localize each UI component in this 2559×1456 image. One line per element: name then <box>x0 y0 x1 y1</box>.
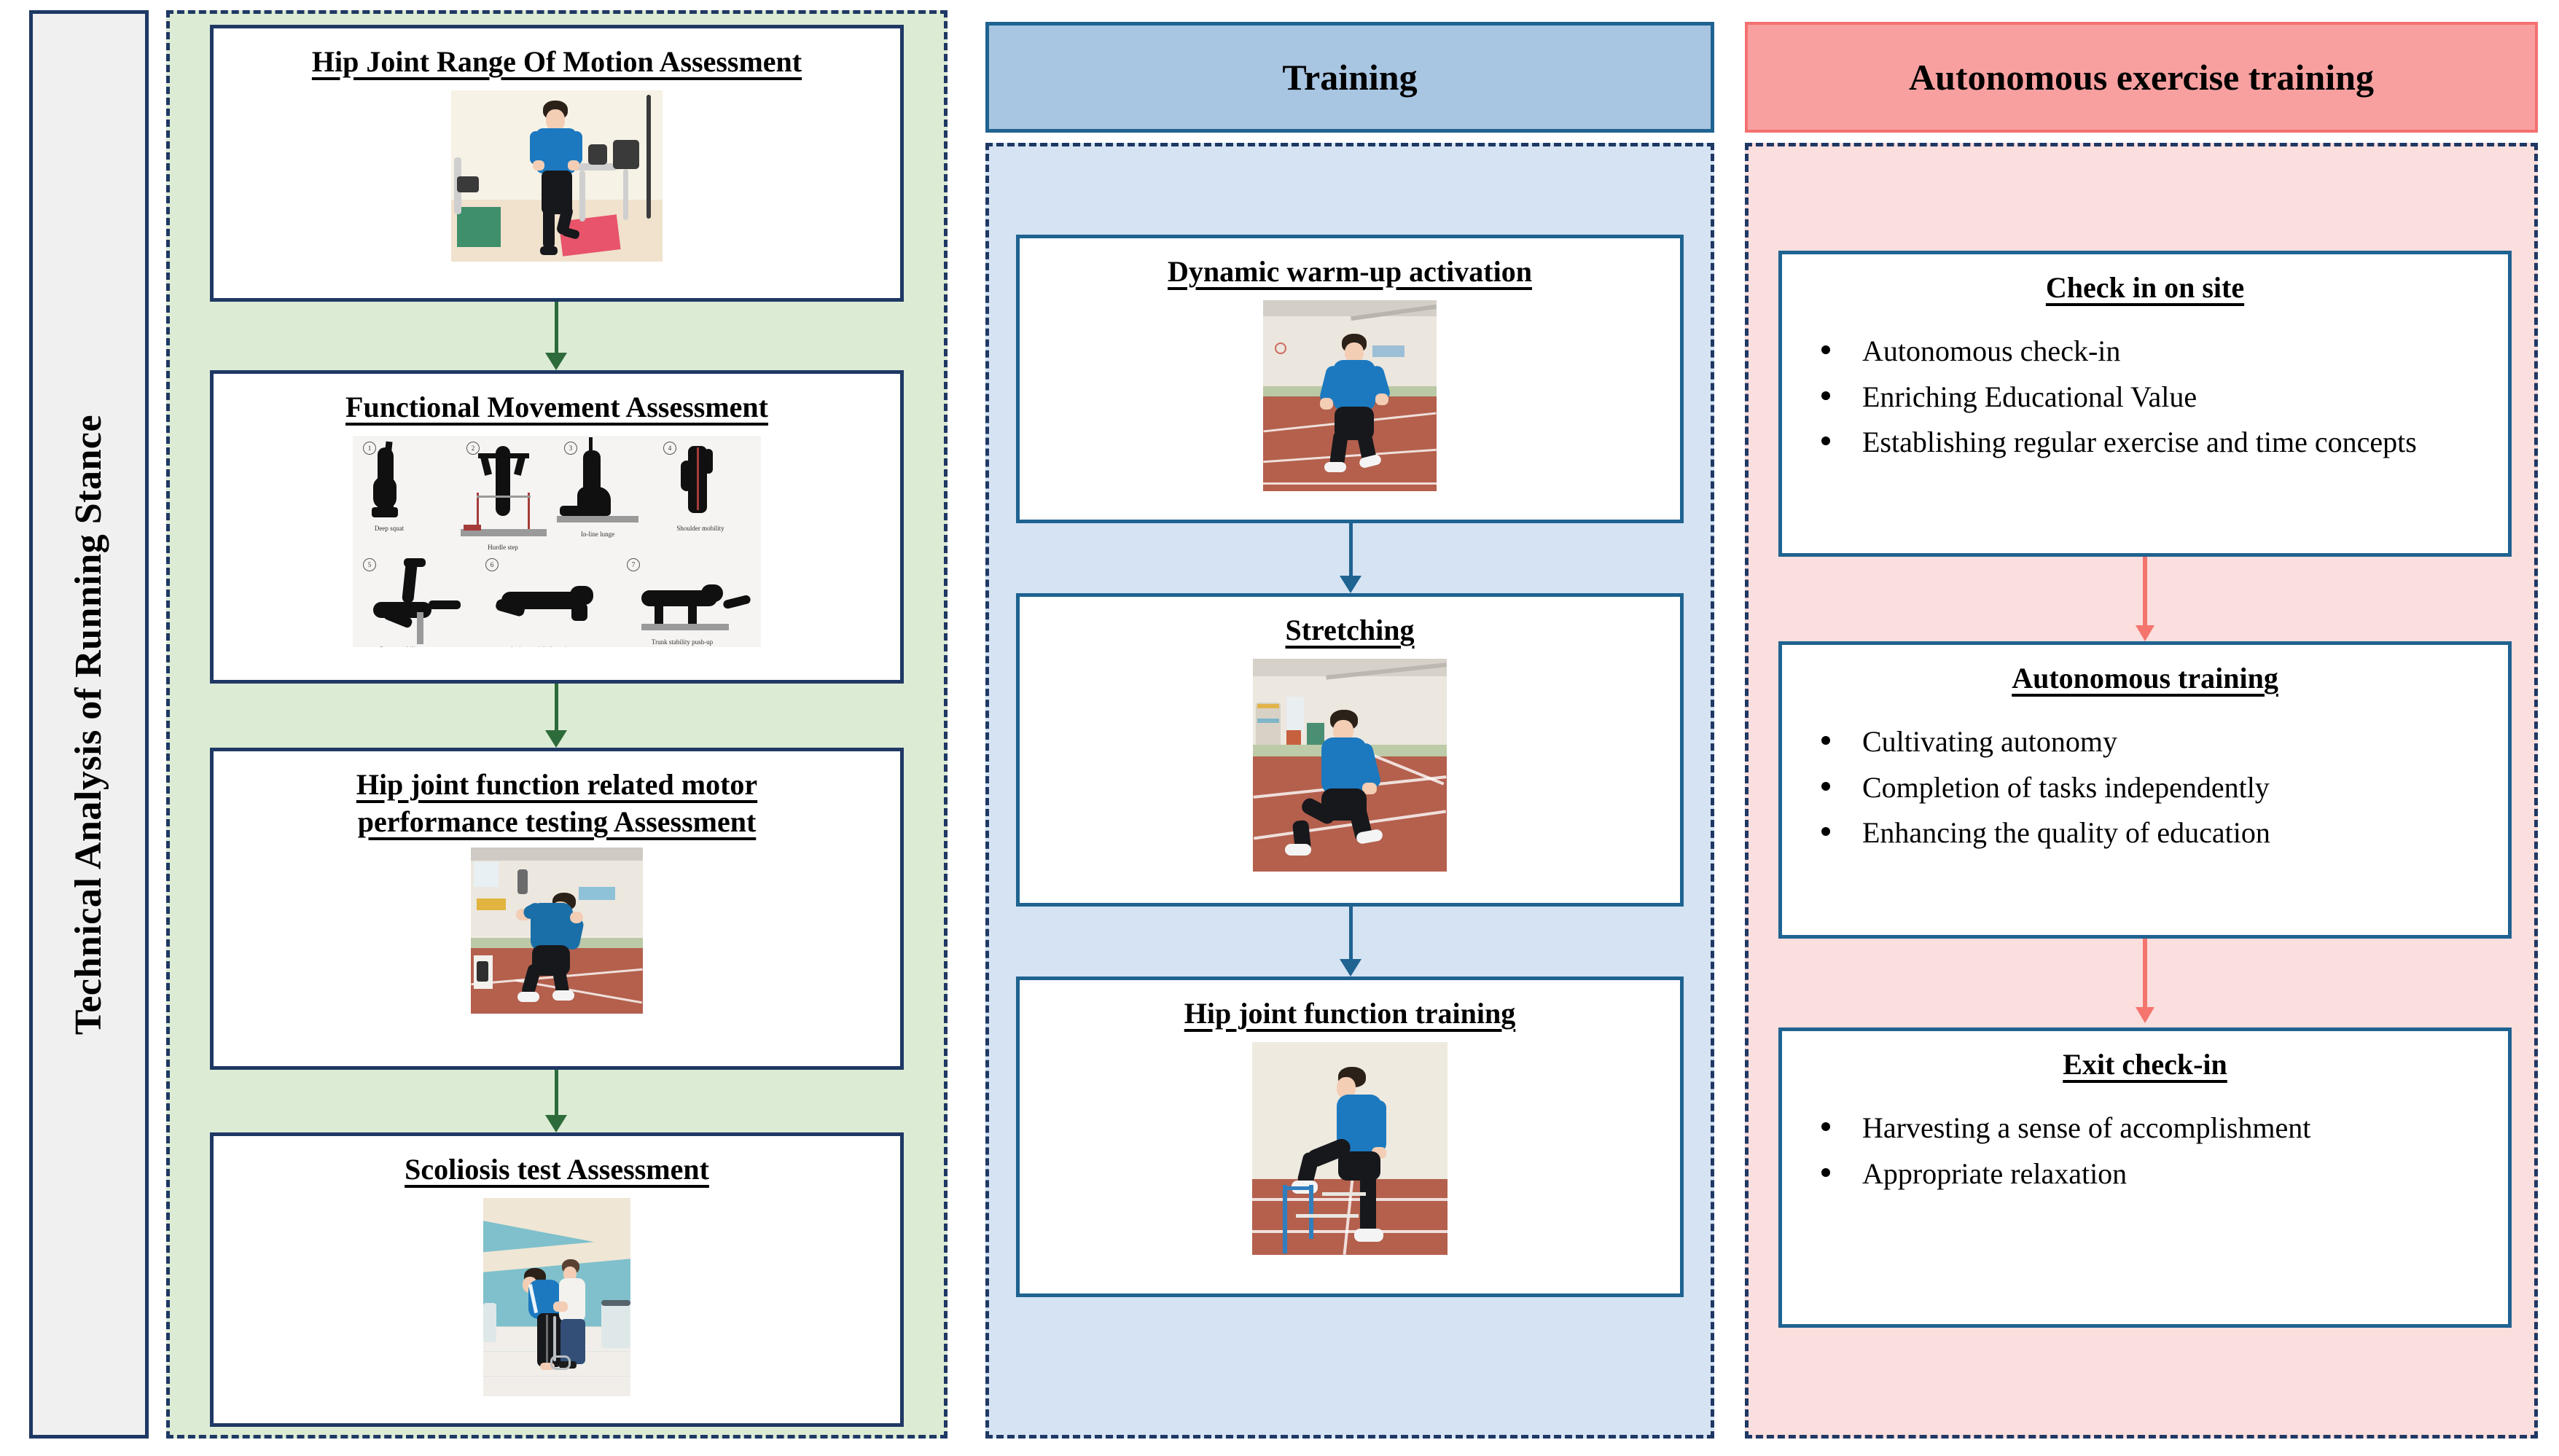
fms-number: 1 <box>363 442 376 455</box>
card-title: Hip Joint Range Of Motion Assessment <box>214 44 900 80</box>
training-card-stretching[interactable]: Stretching <box>1016 593 1684 907</box>
card-title: Stretching <box>1020 613 1680 649</box>
arrow-assessment-1 <box>545 302 567 370</box>
arrow-assessment-2 <box>545 684 567 748</box>
list-item: Enriching Educational Value <box>1814 377 2479 418</box>
arrow-autonomous-2 <box>2136 939 2154 1023</box>
fms-label: Hurdle step <box>466 544 539 551</box>
training-card-dynamic-warmup[interactable]: Dynamic warm-up activation <box>1016 235 1684 523</box>
autonomous-header-label: Autonomous exercise training <box>1748 25 2535 130</box>
assessment-card-functional-movement[interactable]: Functional Movement Assessment 1 Deep sq… <box>210 370 904 684</box>
training-column-header: Training <box>985 22 1714 133</box>
fms-number: 4 <box>663 442 676 455</box>
fms-label: In-line lunge <box>561 531 634 538</box>
fms-label: Shoulder mobility <box>660 525 741 532</box>
card-title: Dynamic warm-up activation <box>1020 254 1680 290</box>
autonomous-card-exit-check-in[interactable]: Exit check-in Harvesting a sense of acco… <box>1778 1028 2512 1328</box>
card-title: Check in on site <box>1782 270 2508 306</box>
sprint-start-test-photo <box>471 848 643 1014</box>
list-item: Harvesting a sense of accomplishment <box>1814 1108 2479 1149</box>
fms-number: 5 <box>363 558 376 571</box>
fms-number: 7 <box>627 558 640 571</box>
list-item: Cultivating autonomy <box>1814 721 2479 763</box>
fms-number: 3 <box>564 442 577 455</box>
hip-range-of-motion-photo <box>451 90 663 262</box>
fms-seven-movements-chart: 1 Deep squat 2 Hurdle step 3 In-line lun… <box>353 436 761 647</box>
arrow-autonomous-1 <box>2136 557 2154 641</box>
autonomous-card-autonomous-training[interactable]: Autonomous training Cultivating autonomy… <box>1778 641 2512 939</box>
assessment-card-hip-range-of-motion[interactable]: Hip Joint Range Of Motion Assessment <box>210 25 904 302</box>
card-title: Exit check-in <box>1782 1047 2508 1083</box>
bullet-list: Harvesting a sense of accomplishment App… <box>1782 1108 2508 1195</box>
arrow-training-1 <box>1340 523 1361 593</box>
fms-label: Active straight leg raise <box>483 646 599 647</box>
training-header-label: Training <box>989 26 1711 129</box>
lunge-stretch-photo <box>1253 659 1447 872</box>
card-title: Scoliosis test Assessment <box>214 1152 900 1188</box>
vertical-title-bar: Technical Analysis of Running Stance <box>29 10 149 1439</box>
scoliosis-forward-bend-photo <box>483 1198 630 1396</box>
hurdle-step-over-photo <box>1252 1042 1448 1255</box>
training-card-hip-joint-function-training[interactable]: Hip joint function training <box>1016 976 1684 1297</box>
bullet-list: Cultivating autonomy Completion of tasks… <box>1782 721 2508 854</box>
running-warmup-photo <box>1263 300 1437 491</box>
fms-label: Deep squat <box>353 525 426 532</box>
autonomous-column-header: Autonomous exercise training <box>1745 22 2538 133</box>
card-title: Hip joint function training <box>1020 996 1680 1032</box>
list-item: Autonomous check-in <box>1814 331 2479 372</box>
bullet-list: Autonomous check-in Enriching Educationa… <box>1782 331 2508 463</box>
page-title: Technical Analysis of Running Stance <box>68 414 111 1034</box>
list-item: Appropriate relaxation <box>1814 1154 2479 1195</box>
arrow-training-2 <box>1340 907 1361 976</box>
card-title: Autonomous training <box>1782 661 2508 697</box>
list-item: Enhancing the quality of education <box>1814 813 2479 854</box>
autonomous-card-check-in-on-site[interactable]: Check in on site Autonomous check-in Enr… <box>1778 251 2512 557</box>
assessment-card-scoliosis-test[interactable]: Scoliosis test Assessment <box>210 1132 904 1427</box>
fms-label: Trunk stability push-up <box>624 638 741 646</box>
assessment-card-motor-performance[interactable]: Hip joint function related motor perform… <box>210 748 904 1070</box>
card-title: Functional Movement Assessment <box>214 390 900 426</box>
fms-number: 6 <box>485 558 499 571</box>
card-title-line-1: Hip joint function related motor <box>214 767 900 803</box>
list-item: Establishing regular exercise and time c… <box>1814 422 2479 463</box>
card-title-line-2: performance testing Assessment <box>214 805 900 840</box>
fms-label: Rotary stability <box>360 646 440 647</box>
list-item: Completion of tasks independently <box>1814 767 2479 809</box>
arrow-assessment-3 <box>545 1070 567 1132</box>
